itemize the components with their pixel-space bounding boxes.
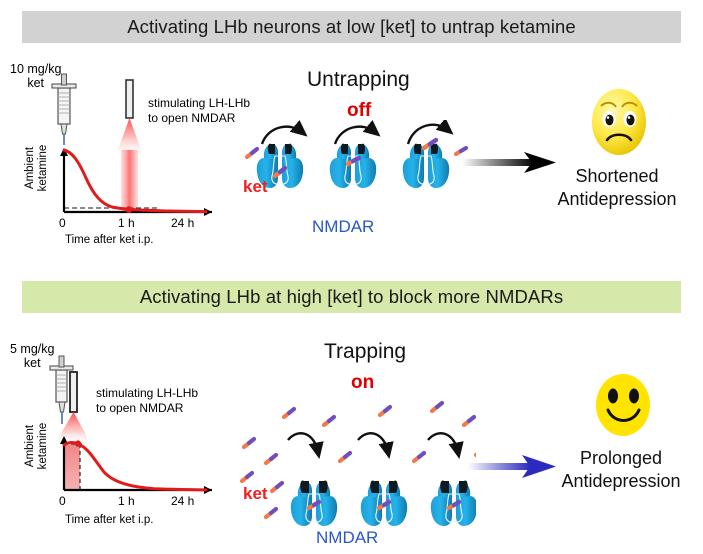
- x-tick-24h: 24 h: [171, 216, 194, 230]
- stimulation-note: stimulating LH-LHb to open NMDAR: [148, 96, 250, 125]
- y-axis-label-line1: Ambient: [24, 147, 36, 189]
- state-label-trapping: Trapping: [324, 340, 406, 364]
- outcome-line1: Prolonged: [580, 448, 662, 468]
- x-axis-caption: Time after ket i.p.: [65, 514, 153, 526]
- nmdar-receptor: [361, 480, 407, 526]
- ketamine-molecule-free: [432, 403, 442, 411]
- y-axis-label: Ambient ketamine: [24, 404, 49, 488]
- nmdar-receptor: [291, 480, 337, 526]
- stimulation-point-marker: [126, 206, 133, 213]
- stimulation-note-line1: stimulating LH-LHb: [96, 386, 198, 400]
- y-axis-label: Ambient ketamine: [24, 126, 49, 210]
- stimulation-note-line2: to open NMDAR: [148, 111, 235, 125]
- ket-label: ket: [243, 177, 268, 197]
- nmdar-receptor: [330, 144, 376, 188]
- stimulation-note: stimulating LH-LHb to open NMDAR: [96, 386, 198, 415]
- panel-low-ket: Activating LHb neurons at low [ket] to u…: [0, 0, 703, 272]
- y-axis-label-line2: ketamine: [37, 423, 49, 470]
- ketamine-molecule-free: [272, 483, 282, 491]
- exit-arrow: [335, 127, 375, 144]
- shaded-region: [64, 444, 80, 490]
- nmdar-receptor: [403, 140, 449, 188]
- dose-drug: ket: [24, 356, 41, 370]
- dose-label: 5 mg/kg ket: [10, 342, 54, 370]
- ketamine-molecule-free: [266, 509, 276, 517]
- x-tick-0: 0: [59, 494, 66, 508]
- stimulation-note-line2: to open NMDAR: [96, 401, 183, 415]
- ketamine-molecule-free: [340, 453, 350, 461]
- y-axis-label-line1: Ambient: [24, 425, 36, 467]
- sad-face-icon: [588, 86, 650, 158]
- nmdar-trapping-diagram: [236, 390, 476, 540]
- panel-high-ket: Activating LHb at high [ket] to block mo…: [0, 272, 703, 554]
- x-tick-0: 0: [59, 216, 66, 230]
- ketamine-molecule-free: [284, 409, 294, 417]
- panel-top-banner-text: Activating LHb neurons at low [ket] to u…: [127, 16, 576, 38]
- entry-arrow: [428, 433, 458, 452]
- ketamine-molecule-free: [244, 439, 254, 447]
- entry-arrow: [358, 433, 388, 452]
- ketamine-molecule-free: [414, 453, 424, 461]
- outcome-line2: Antidepression: [561, 471, 680, 491]
- x-tick-1h: 1 h: [118, 494, 135, 508]
- outcome-text: Shortened Antidepression: [531, 165, 703, 211]
- ketamine-molecule-free: [266, 455, 276, 463]
- happy-face-icon: [592, 372, 654, 438]
- optic-fiber-icon: [117, 80, 142, 212]
- stimulation-note-line1: stimulating LH-LHb: [148, 96, 250, 110]
- outcome-line2: Antidepression: [557, 189, 676, 209]
- ketamine-molecule-free: [464, 417, 474, 425]
- entry-arrow: [288, 433, 318, 452]
- dose-drug: ket: [27, 76, 44, 90]
- ketamine-molecule-free: [242, 473, 252, 481]
- switch-label-off: off: [347, 100, 371, 122]
- dose-amount: 10 mg/kg: [10, 62, 61, 76]
- ket-label: ket: [243, 484, 268, 504]
- ketamine-molecule-free: [247, 149, 257, 157]
- state-label-untrapping: Untrapping: [307, 68, 410, 92]
- exit-arrow: [262, 127, 302, 144]
- chart-high-ket: 5 mg/kg ket Ambient ketamine stimulating…: [8, 338, 223, 528]
- outcome-line1: Shortened: [575, 166, 658, 186]
- nmdar-untrapping-diagram: [240, 120, 470, 230]
- ketamine-molecule-free: [324, 417, 334, 425]
- panel-bottom-banner-text: Activating LHb at high [ket] to block mo…: [140, 286, 563, 308]
- panel-bottom-banner: Activating LHb at high [ket] to block mo…: [22, 281, 681, 313]
- ketamine-molecule-free: [380, 407, 390, 415]
- outcome-text: Prolonged Antidepression: [535, 447, 703, 493]
- x-tick-24h: 24 h: [171, 494, 194, 508]
- nmdar-label: NMDAR: [316, 528, 378, 548]
- ketamine-decay-curve: [64, 442, 206, 489]
- nmdar-receptor: [431, 480, 476, 526]
- x-axis-caption: Time after ket i.p.: [65, 234, 153, 246]
- nmdar-label: NMDAR: [312, 217, 374, 237]
- exit-arrow: [408, 125, 448, 144]
- dose-amount: 5 mg/kg: [10, 342, 54, 356]
- y-axis-label-line2: ketamine: [37, 145, 49, 192]
- stimulation-point-marker: [75, 440, 81, 446]
- chart-low-ket: 10 mg/kg ket Ambient ketamine stimulatin…: [8, 60, 223, 245]
- dose-label: 10 mg/kg ket: [10, 62, 61, 90]
- x-tick-1h: 1 h: [118, 216, 135, 230]
- panel-top-banner: Activating LHb neurons at low [ket] to u…: [22, 11, 681, 43]
